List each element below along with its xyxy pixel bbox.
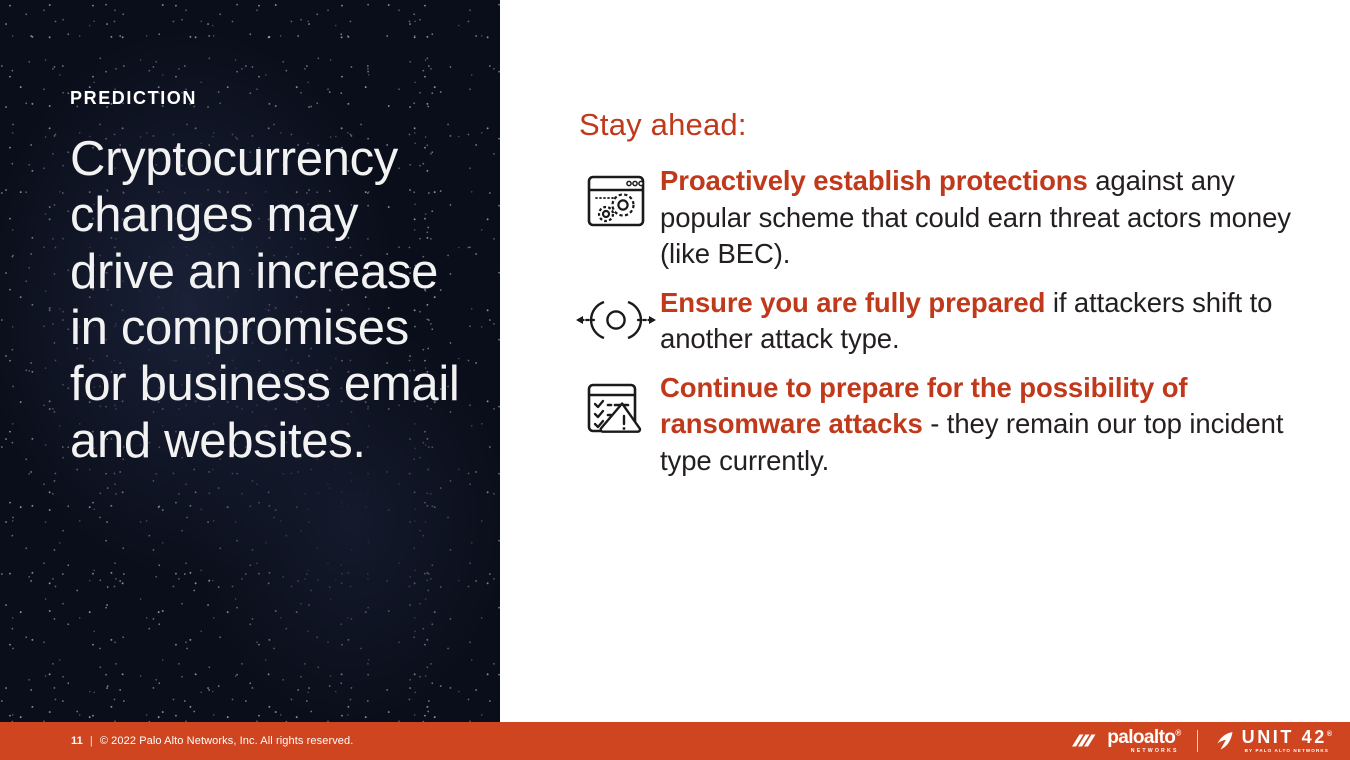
bullet-icon-slot bbox=[572, 370, 660, 438]
footer-separator: | bbox=[90, 735, 93, 747]
left-dark-panel: PREDICTION Cryptocurrency changes may dr… bbox=[0, 0, 500, 722]
prediction-headline: Cryptocurrency changes may drive an incr… bbox=[70, 131, 470, 469]
paloalto-name: paloalto® bbox=[1107, 728, 1180, 747]
stay-ahead-heading: Stay ahead: bbox=[579, 107, 747, 143]
list-item-text: Continue to prepare for the possibility … bbox=[660, 370, 1310, 480]
right-content-panel: Stay ahead: bbox=[500, 0, 1350, 722]
unit42-logo: UNIT 42® BY PALO ALTO NETWORKS bbox=[1214, 728, 1332, 754]
browser-gears-icon bbox=[585, 173, 647, 229]
prediction-eyebrow-label: PREDICTION bbox=[70, 88, 470, 109]
list-item: Proactively establish protections agains… bbox=[572, 163, 1310, 273]
list-item-emphasis: Ensure you are fully prepared bbox=[660, 287, 1045, 318]
paloalto-wordmark: paloalto® NETWORKS bbox=[1107, 728, 1180, 754]
paloalto-mark-icon bbox=[1070, 730, 1100, 752]
paloalto-networks-logo: paloalto® NETWORKS bbox=[1070, 728, 1180, 754]
paloalto-subtitle: NETWORKS bbox=[1131, 749, 1179, 754]
list-item-text: Ensure you are fully prepared if attacke… bbox=[660, 285, 1310, 358]
list-item-emphasis: Proactively establish protections bbox=[660, 165, 1088, 196]
left-panel-content: PREDICTION Cryptocurrency changes may dr… bbox=[70, 88, 470, 469]
recommendations-list: Proactively establish protections agains… bbox=[572, 163, 1310, 492]
unit42-subtitle: BY PALO ALTO NETWORKS bbox=[1245, 749, 1329, 754]
footer-bar: 11 | © 2022 Palo Alto Networks, Inc. All… bbox=[0, 722, 1350, 760]
slide-root: PREDICTION Cryptocurrency changes may dr… bbox=[0, 0, 1350, 760]
bullet-icon-slot bbox=[572, 285, 660, 345]
copyright-text: © 2022 Palo Alto Networks, Inc. All righ… bbox=[100, 735, 354, 747]
unit42-wordmark: UNIT 42® BY PALO ALTO NETWORKS bbox=[1242, 728, 1332, 754]
unit42-name-text: UNIT 42 bbox=[1242, 727, 1327, 747]
unit42-name: UNIT 42® bbox=[1242, 728, 1332, 746]
page-number: 11 bbox=[71, 735, 83, 747]
logo-divider bbox=[1197, 730, 1198, 752]
target-shift-arrows-icon bbox=[574, 295, 658, 345]
list-item: Ensure you are fully prepared if attacke… bbox=[572, 285, 1310, 358]
registered-mark: ® bbox=[1327, 731, 1332, 738]
list-item-text: Proactively establish protections agains… bbox=[660, 163, 1310, 273]
checklist-warning-icon bbox=[584, 380, 648, 438]
paloalto-name-text: paloalto bbox=[1107, 727, 1175, 748]
unit42-mark-icon bbox=[1214, 730, 1236, 752]
bullet-icon-slot bbox=[572, 163, 660, 229]
footer-logo-group: paloalto® NETWORKS UNIT 42® BY PALO ALTO… bbox=[1070, 728, 1350, 754]
footer-left-group: 11 | © 2022 Palo Alto Networks, Inc. All… bbox=[0, 735, 353, 747]
registered-mark: ® bbox=[1175, 729, 1180, 738]
list-item: Continue to prepare for the possibility … bbox=[572, 370, 1310, 480]
